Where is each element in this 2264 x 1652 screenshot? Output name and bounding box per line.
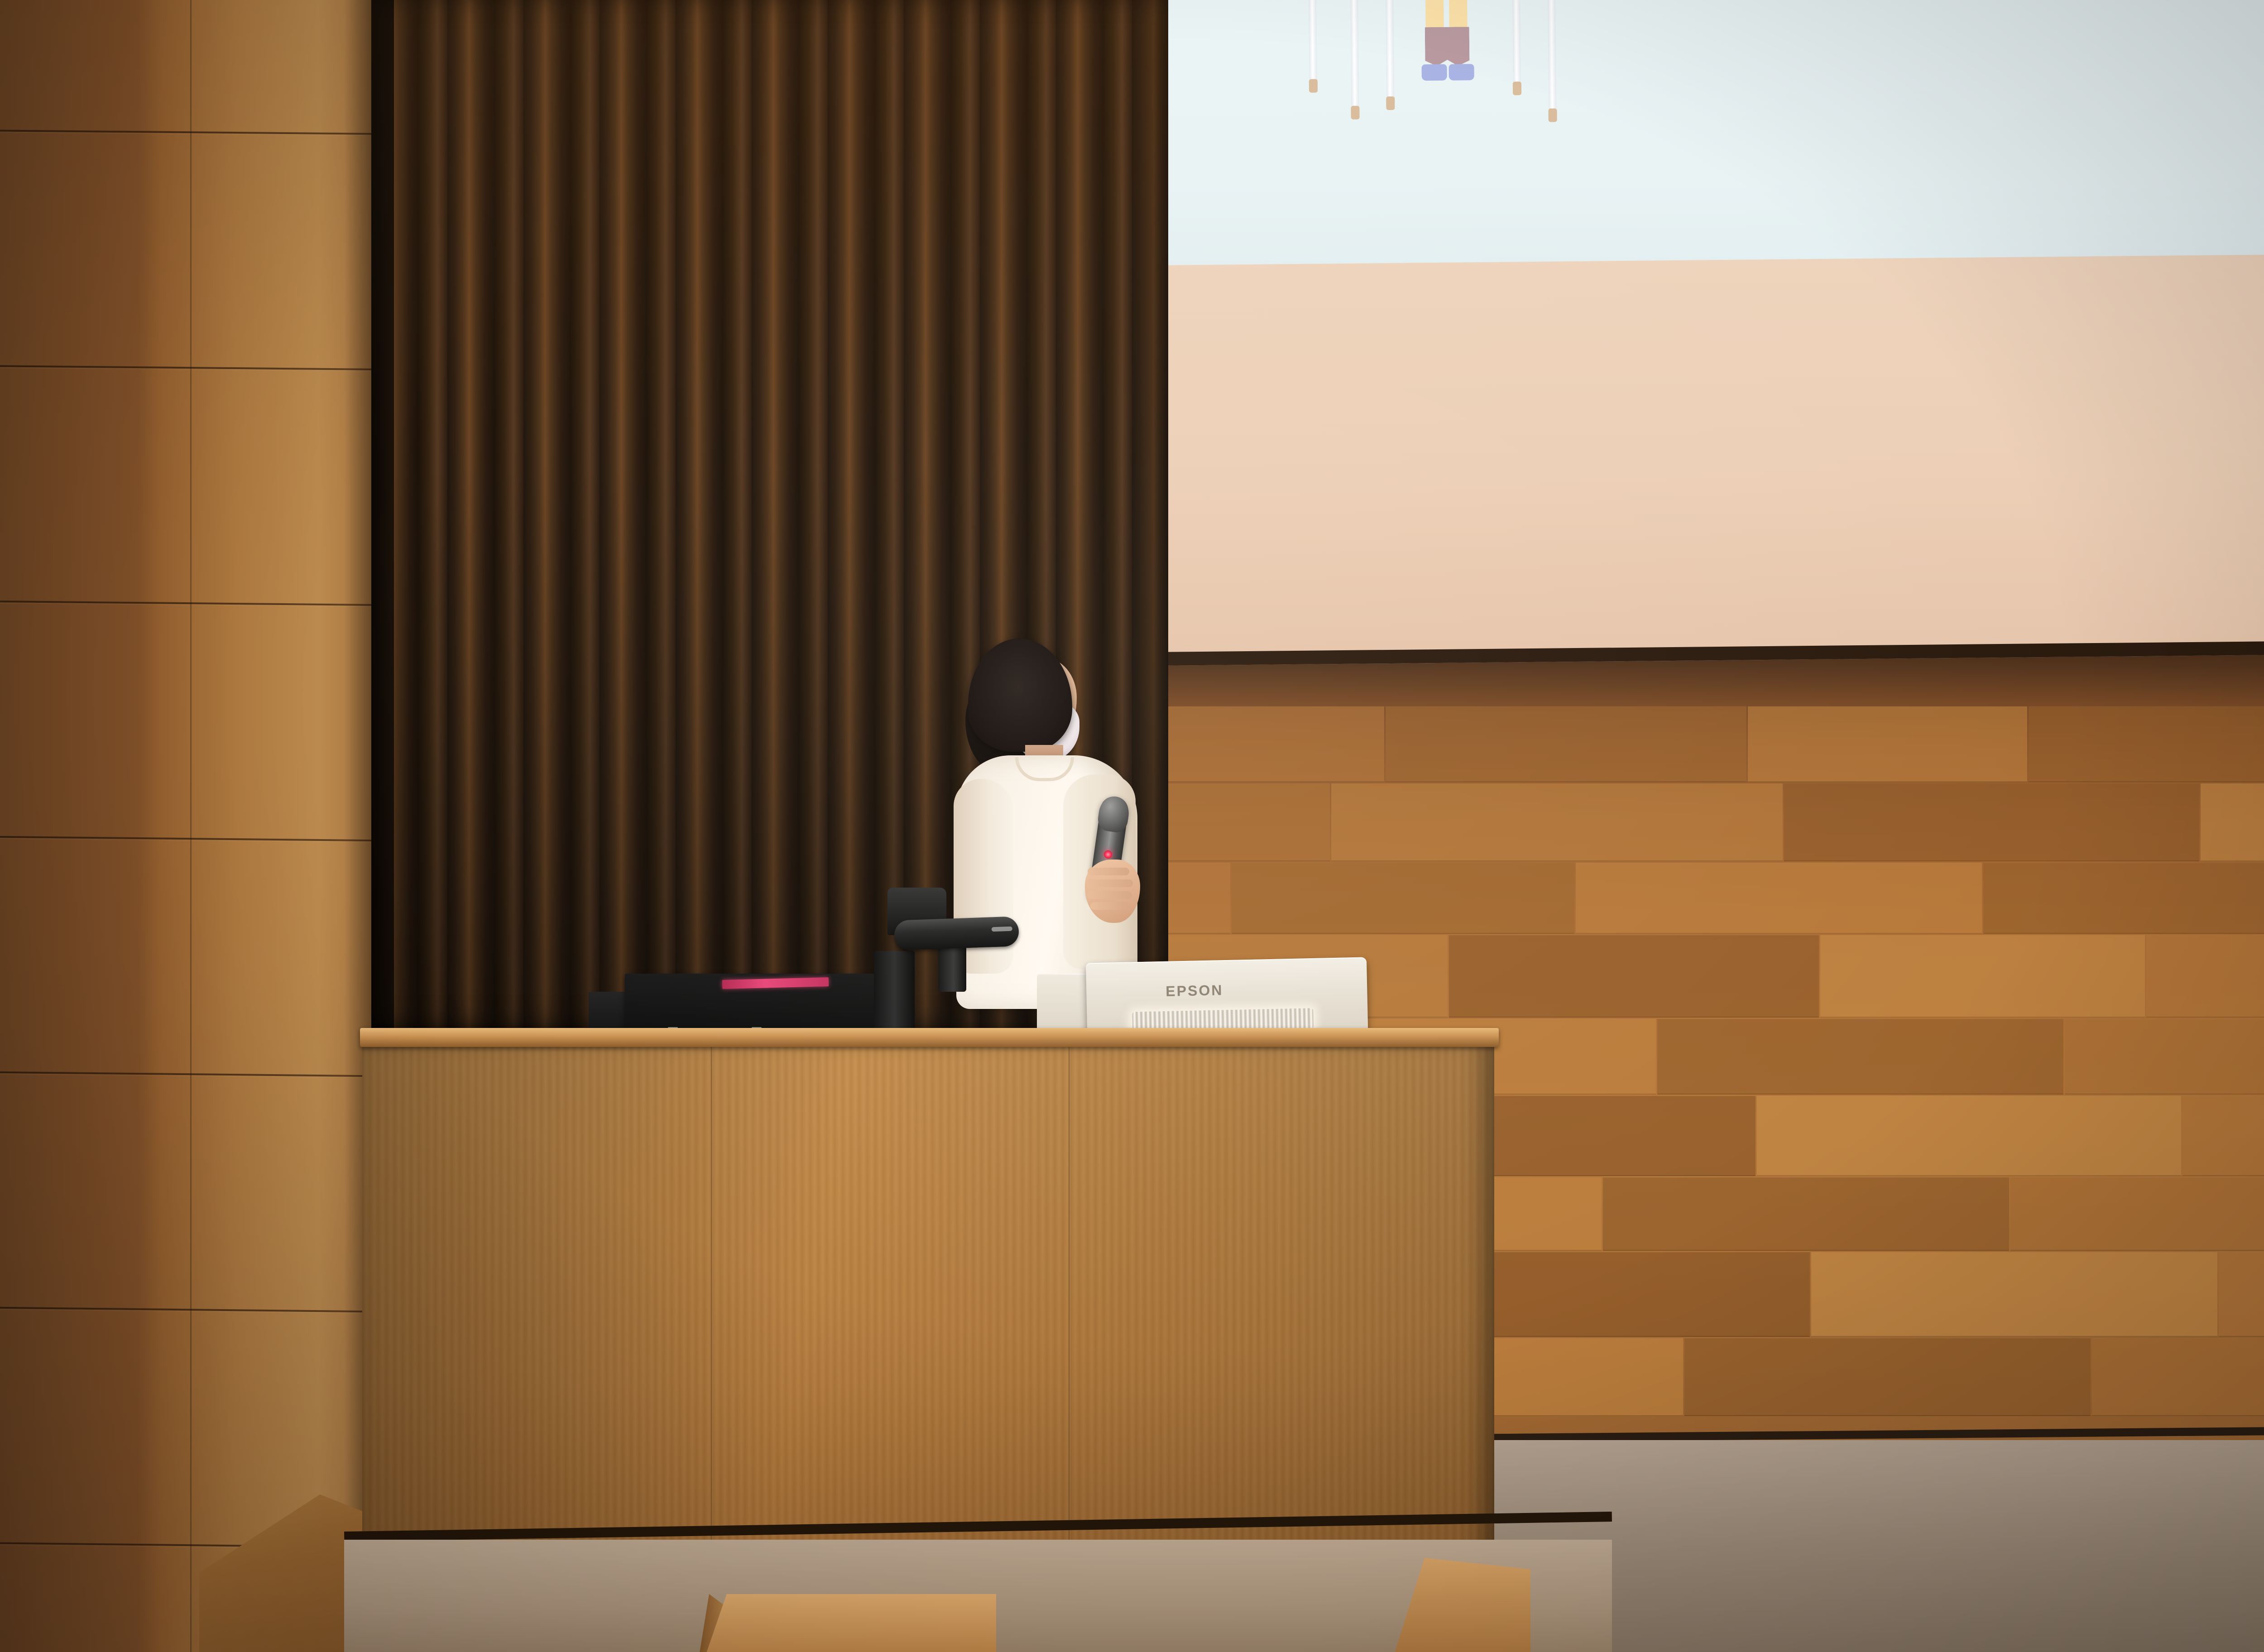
masonry-column bbox=[0, 0, 371, 1652]
column-seam bbox=[190, 0, 192, 1652]
wall-plank bbox=[1440, 1252, 1810, 1337]
wall-plank bbox=[1232, 863, 1574, 934]
projection-screen bbox=[1150, 0, 2264, 666]
slide-figure-socks bbox=[1425, 27, 1470, 66]
slide-pole-tip bbox=[1513, 82, 1521, 95]
wall-plank bbox=[2010, 1177, 2264, 1251]
wall-plank bbox=[2146, 935, 2264, 1018]
finger bbox=[1087, 891, 1132, 899]
slide-illustration bbox=[1299, 0, 1591, 157]
column-joint bbox=[0, 130, 371, 134]
auditorium-photograph: EPSON bbox=[0, 0, 2264, 1652]
wall-plank bbox=[1811, 1252, 2217, 1337]
wall-plank bbox=[2065, 1019, 2264, 1095]
slide-figure-shoe bbox=[1421, 64, 1447, 81]
wall-plank bbox=[1684, 1338, 2091, 1416]
finger bbox=[1086, 879, 1133, 887]
slide-pole bbox=[1384, 0, 1395, 102]
wall-plank bbox=[1386, 706, 1746, 782]
audience-bench-left bbox=[706, 1594, 996, 1652]
slide-pole bbox=[1511, 0, 1521, 87]
wall-plank bbox=[1784, 783, 2199, 861]
slide-pole bbox=[1349, 0, 1359, 111]
wall-plank bbox=[2029, 706, 2264, 782]
wall-plank bbox=[1657, 1019, 2063, 1095]
lectern-top-surface bbox=[360, 1028, 1499, 1047]
column-joint bbox=[0, 1307, 371, 1313]
wall-plank bbox=[1820, 935, 2145, 1018]
mic-stand-arm bbox=[894, 916, 1019, 951]
wall-plank bbox=[1603, 1177, 2009, 1251]
wall-plank bbox=[1449, 935, 1819, 1018]
wall-plank bbox=[1331, 783, 1783, 861]
slide-pole bbox=[1546, 0, 1557, 114]
finger bbox=[1090, 902, 1128, 910]
wall-plank bbox=[1757, 1096, 2181, 1176]
microphone-indicator-light bbox=[1103, 850, 1113, 859]
lectern-shading bbox=[362, 1037, 1494, 1594]
wall-plank bbox=[1748, 706, 2027, 782]
screen-lower-band bbox=[1153, 253, 2264, 655]
wall-plank bbox=[2201, 783, 2264, 861]
hair bbox=[968, 639, 1072, 752]
projector-brand-label: EPSON bbox=[1166, 982, 1223, 1000]
column-joint bbox=[0, 365, 371, 370]
wall-plank bbox=[1576, 863, 1982, 934]
slide-figure-leg bbox=[1449, 0, 1468, 30]
column-joint bbox=[0, 600, 371, 606]
slide-pole-tip bbox=[1548, 108, 1557, 122]
slide-pole-tip bbox=[1309, 79, 1318, 92]
wall-plank bbox=[2219, 1252, 2264, 1337]
wall-plank bbox=[2182, 1096, 2264, 1176]
slide-pole-tip bbox=[1386, 96, 1395, 110]
column-joint bbox=[0, 836, 371, 841]
slide-figure-leg bbox=[1425, 0, 1444, 30]
slide-pole-tip bbox=[1351, 106, 1359, 120]
wall-plank bbox=[1983, 863, 2264, 934]
wall-plank bbox=[2092, 1338, 2264, 1416]
slide-figure-shoe bbox=[1449, 64, 1474, 81]
slide-pole bbox=[1307, 0, 1317, 85]
column-joint bbox=[0, 1071, 371, 1077]
finger bbox=[1088, 868, 1129, 875]
